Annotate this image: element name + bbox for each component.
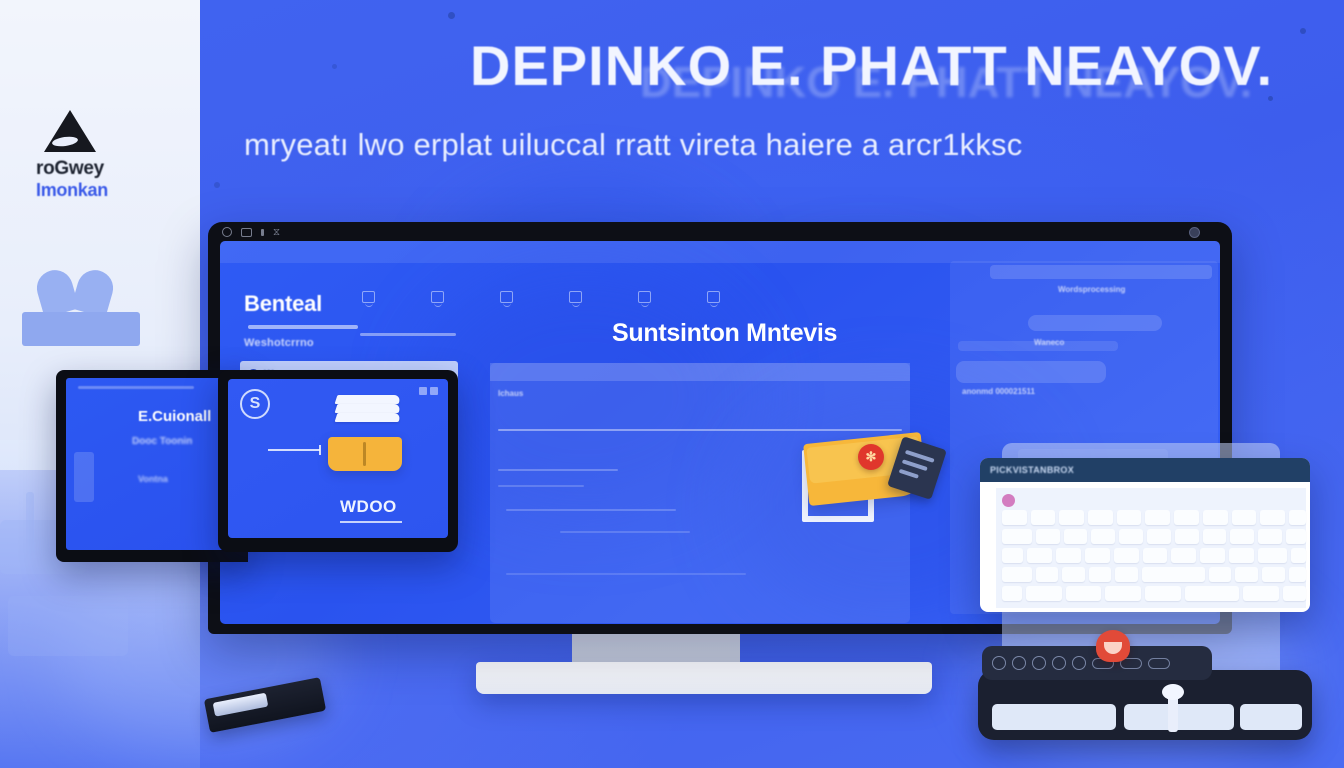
pill-icon[interactable] xyxy=(1148,658,1170,669)
right-window-title: PICKVISTANBROX xyxy=(990,465,1074,475)
flag-icon[interactable] xyxy=(500,291,513,303)
arrow-right-icon xyxy=(268,449,320,451)
bg-dot xyxy=(1300,28,1306,34)
chart-icon[interactable] xyxy=(569,291,582,303)
card-text-line xyxy=(506,573,746,575)
shrink-icon: ⧖ xyxy=(273,228,284,237)
keyboard-icon xyxy=(996,488,1306,608)
dial-icon[interactable] xyxy=(1032,656,1046,670)
screen-top-strip xyxy=(220,241,1220,263)
dial-icon[interactable] xyxy=(992,656,1006,670)
monitor-bezel-icons[interactable]: ⧖ xyxy=(222,227,284,237)
documents-icon xyxy=(336,395,402,431)
user-icon[interactable] xyxy=(431,291,444,303)
stylus-tip-icon xyxy=(1162,684,1184,700)
dial-icon[interactable] xyxy=(1052,656,1066,670)
dial-icon[interactable] xyxy=(1072,656,1086,670)
card-text-line xyxy=(498,469,618,471)
hero-illustration: DEPINKO E. PHATT NEAYOV. roGwey Imonkan … xyxy=(0,0,1344,768)
brand-name-line2: Imonkan xyxy=(36,180,186,201)
brand-name-line1: roGwey xyxy=(36,158,186,180)
hero-headline: DEPINKO E. PHATT NEAYOV. xyxy=(470,38,1330,94)
screen-heading: Suntsinton Mntevis xyxy=(612,319,837,348)
panel-row-label: anonmd 000021511 xyxy=(962,387,1035,396)
window-icon xyxy=(241,228,252,237)
sidebar-section-label: Weshotcrrno xyxy=(244,337,314,349)
card-divider xyxy=(498,429,902,431)
brand-logo[interactable]: roGwey Imonkan xyxy=(36,110,186,201)
camera-icon xyxy=(1189,227,1200,238)
card-label: Ichaus xyxy=(498,389,523,398)
panel-ghost-shape xyxy=(26,492,34,554)
pin-icon[interactable] xyxy=(638,291,651,303)
screen-nav-row[interactable] xyxy=(362,291,720,303)
card-text-line xyxy=(506,509,676,511)
keyboard-row xyxy=(1002,510,1306,525)
monitor-base xyxy=(476,662,932,694)
card-header xyxy=(490,363,910,381)
bg-dot xyxy=(214,182,220,188)
panel-ghost-shape xyxy=(8,596,128,656)
layout-icon[interactable] xyxy=(362,291,375,303)
gift-box-icon xyxy=(22,270,140,346)
brand-underline-secondary xyxy=(360,333,456,336)
hero-subheadline: mryeatı lwo erplat uiluccal rratt vireta… xyxy=(244,128,1344,162)
dial-icon[interactable] xyxy=(1012,656,1026,670)
laptop-title: E.Cuionall xyxy=(138,408,211,425)
laptop-ghost-block xyxy=(74,452,94,502)
right-window-card: PICKVISTANBROX xyxy=(980,458,1310,612)
red-figure-icon xyxy=(1096,630,1130,662)
filter-icon[interactable] xyxy=(707,291,720,303)
keyboard-row xyxy=(1002,529,1306,544)
phone-screen xyxy=(213,693,269,717)
bg-dot xyxy=(332,64,337,69)
bg-dot xyxy=(448,12,455,19)
bar-icon xyxy=(261,229,264,236)
screen-sidebar-brand: Benteal xyxy=(244,291,322,317)
device-panel-left xyxy=(992,704,1116,730)
panel-row-selected xyxy=(956,361,1106,383)
yellow-card-icon xyxy=(328,437,402,471)
card-text-line xyxy=(498,485,584,487)
maximize-icon[interactable] xyxy=(430,387,438,395)
swirl-logo-icon: S xyxy=(240,389,270,419)
tablet-device: S WDOO xyxy=(218,370,458,552)
panel-field xyxy=(1028,315,1162,331)
laptop-subtitle: Dooc Toonin xyxy=(132,436,192,447)
envelope-icon: ✻ xyxy=(800,432,940,532)
panel-field-label: Waneco xyxy=(1034,338,1064,347)
tablet-label: WDOO xyxy=(340,497,397,517)
brand-underline xyxy=(248,325,358,329)
pink-status-dot xyxy=(1002,494,1015,507)
mountain-peak-icon xyxy=(36,110,98,156)
minimize-icon[interactable] xyxy=(419,387,427,395)
laptop-caption: Vontna xyxy=(138,474,168,484)
panel-toolbar xyxy=(990,265,1212,279)
right-window-header: PICKVISTANBROX xyxy=(980,458,1310,482)
tablet-screen: S WDOO xyxy=(228,379,448,538)
device-panel-mid xyxy=(1124,704,1234,730)
laptop-top-line xyxy=(78,386,194,389)
tablet-label-underline xyxy=(340,521,402,523)
panel-toolbar-label: Wordsprocessing xyxy=(1058,285,1125,294)
seal-badge-icon: ✻ xyxy=(858,444,884,470)
device-panel-right xyxy=(1240,704,1302,730)
keyboard-row xyxy=(1002,548,1306,563)
circle-icon xyxy=(222,227,232,237)
keyboard-row xyxy=(1002,567,1306,582)
window-buttons[interactable] xyxy=(419,387,438,395)
control-device xyxy=(978,670,1312,740)
keyboard-row xyxy=(1002,586,1306,601)
card-text-line xyxy=(560,531,690,533)
